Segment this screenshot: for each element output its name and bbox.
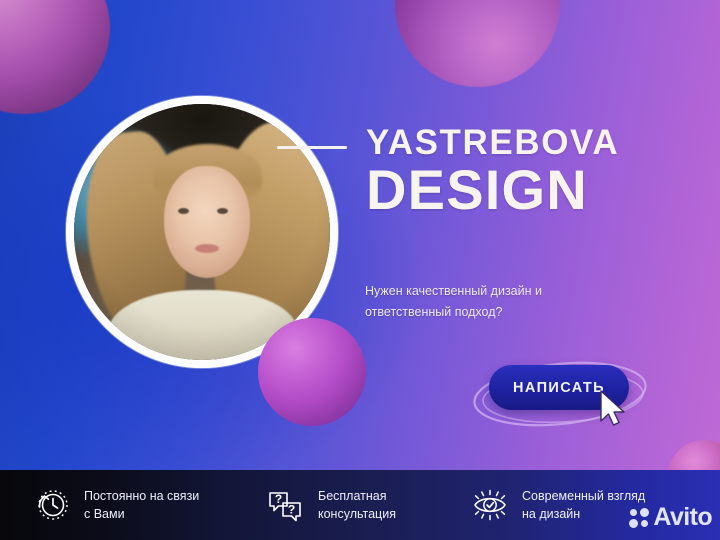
sphere-mid-icon [258,318,366,426]
svg-text:?: ? [275,492,282,506]
avito-label: Avito [653,505,712,530]
brand-name-line1: YASTREBOVA [366,126,696,159]
avito-watermark: Avito [629,505,712,530]
page-title: YASTREBOVA DESIGN [366,126,696,216]
feature-line1: Постоянно на связи [84,487,199,505]
brand-name-line2: DESIGN [366,163,696,216]
cta-zone: НАПИСАТЬ [468,352,654,436]
svg-text:?: ? [288,503,295,517]
clock-refresh-icon [32,485,72,525]
feature-bar: Постоянно на связи с Вами ? ? Бесплатная… [0,470,720,540]
feature-item-modern-design: Современный взгляд на дизайн [470,470,645,540]
feature-line1: Современный взгляд [522,487,645,505]
feature-line1: Бесплатная [318,487,396,505]
mouse-cursor-icon [596,388,630,430]
feature-item-free-consultation: ? ? Бесплатная консультация [266,470,396,540]
feature-label-modern-design: Современный взгляд на дизайн [522,487,645,523]
title-rule [277,146,347,149]
question-chat-bubbles-icon: ? ? [266,485,306,525]
avito-dots-icon [629,508,649,528]
feature-label-free-consultation: Бесплатная консультация [318,487,396,523]
subtitle-line2: ответственный подход? [365,302,615,323]
advertisement-banner: YASTREBOVA DESIGN Нужен качественный диз… [0,0,720,540]
feature-line2: на дизайн [522,505,645,523]
feature-item-always-in-touch: Постоянно на связи с Вами [32,470,199,540]
feature-line2: консультация [318,505,396,523]
subtitle: Нужен качественный дизайн и ответственны… [365,281,615,322]
feature-line2: с Вами [84,505,199,523]
eye-check-icon [470,485,510,525]
subtitle-line1: Нужен качественный дизайн и [365,281,615,302]
feature-label-always-in-touch: Постоянно на связи с Вами [84,487,199,523]
